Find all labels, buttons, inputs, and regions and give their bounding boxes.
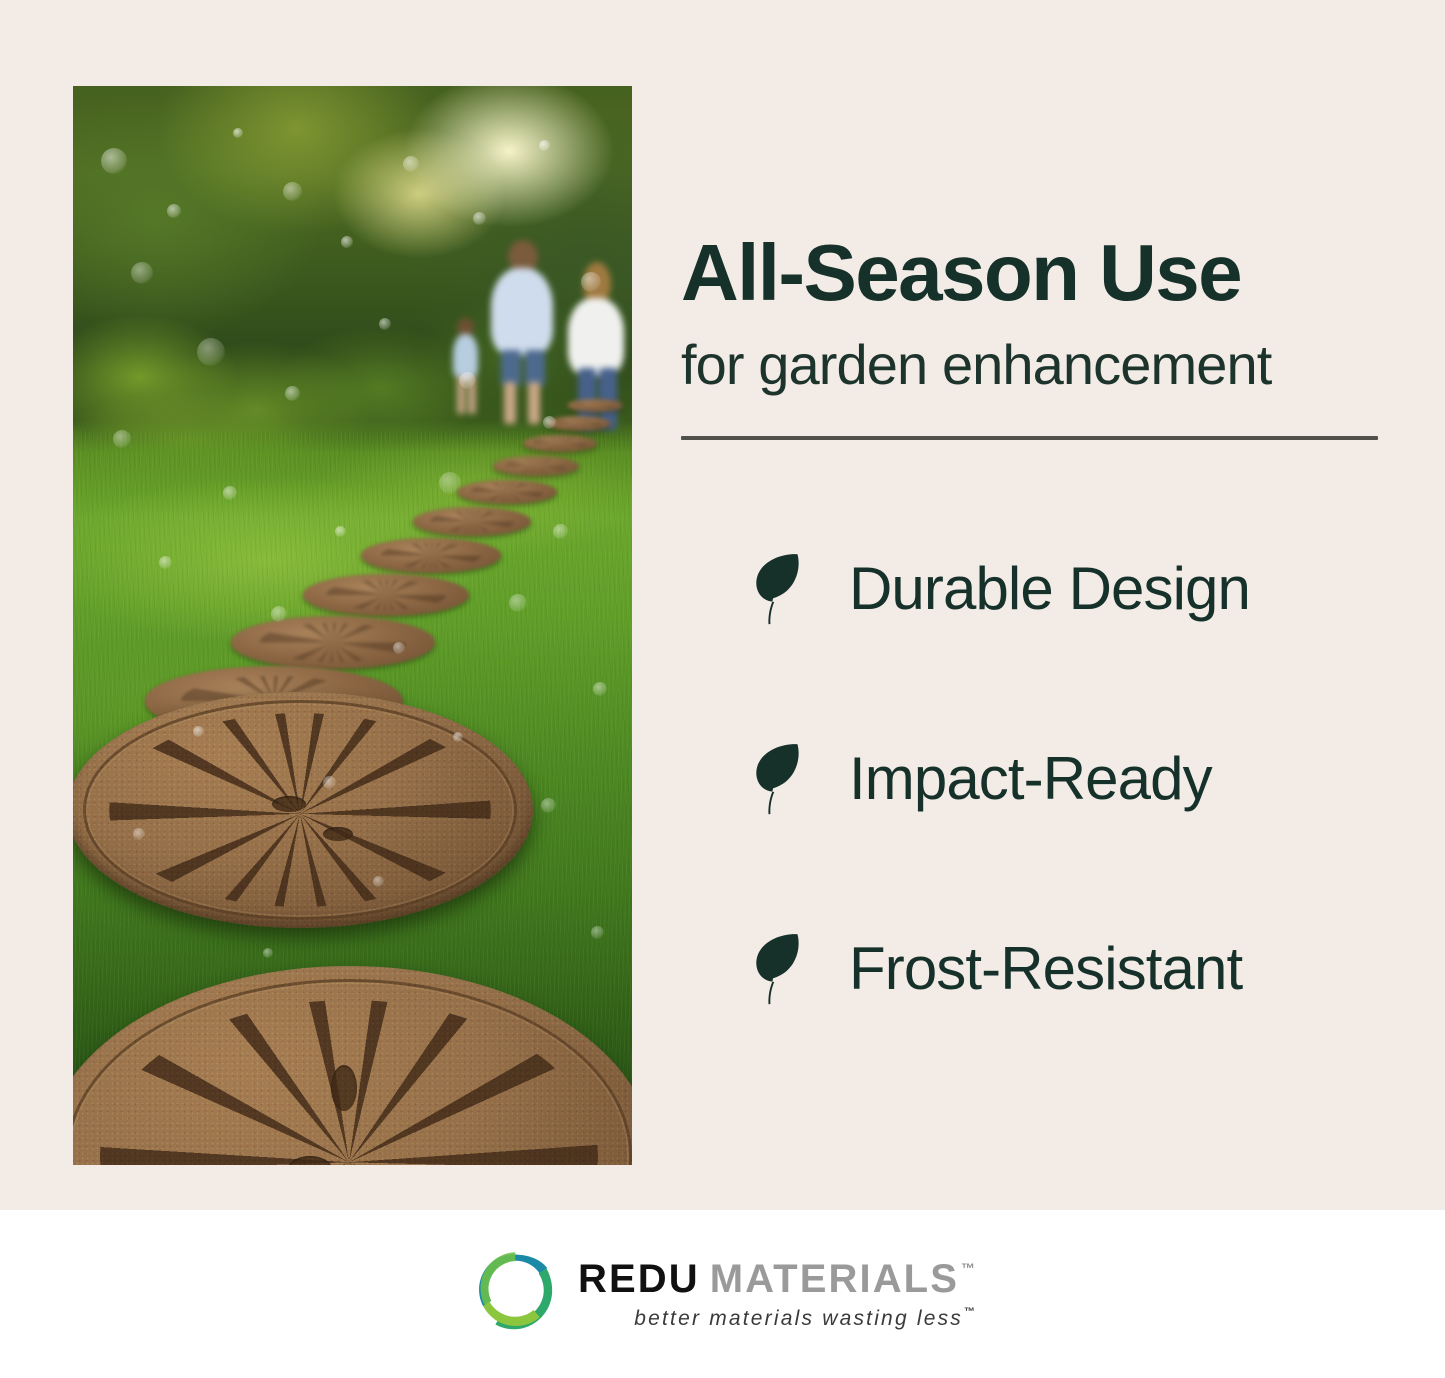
feature-label: Durable Design	[849, 559, 1250, 619]
divider	[681, 436, 1378, 440]
logo-text-block: REDU MATERIALS ™ better materials wastin…	[578, 1259, 975, 1329]
brand-logo: REDU MATERIALS ™ better materials wastin…	[470, 1251, 975, 1337]
page-subtitle: for garden enhancement	[681, 332, 1381, 398]
garden-path-photo	[73, 86, 632, 1165]
brand-tagline-trademark-symbol: ™	[964, 1307, 975, 1318]
photo-stone-far-7	[361, 538, 501, 573]
leaf-icon	[747, 932, 803, 1006]
redu-swirl-logo-icon	[470, 1251, 556, 1337]
photo-stone-far-5	[457, 480, 557, 504]
brand-tagline-text: better materials wasting less	[634, 1308, 963, 1329]
footer: REDU MATERIALS ™ better materials wastin…	[0, 1210, 1445, 1378]
hero-panel: All-Season Use for garden enhancement Du…	[0, 0, 1445, 1210]
leaf-icon	[747, 552, 803, 626]
photo-stone-foreground-upper	[73, 692, 533, 928]
photo-stone-far-1	[567, 399, 623, 412]
photo-stone-far-3	[523, 435, 597, 452]
brand-wordmark-primary: REDU	[578, 1259, 700, 1299]
brand-wordmark-secondary: MATERIALS	[710, 1259, 959, 1299]
photo-stone-far-4	[493, 456, 579, 476]
feature-label: Impact-Ready	[849, 749, 1212, 809]
brand-wordmark: REDU MATERIALS ™	[578, 1259, 975, 1299]
feature-label: Frost-Resistant	[849, 939, 1242, 999]
leaf-icon	[747, 742, 803, 816]
feature-item-frost-resistant: Frost-Resistant	[681, 874, 1381, 1064]
photo-stone-far-9	[231, 616, 435, 669]
photo-stone-far-6	[413, 507, 531, 536]
photo-walker-child	[449, 318, 483, 414]
page-title: All-Season Use	[681, 232, 1381, 314]
feature-list: Durable Design Impact-Ready Frost-Resist…	[681, 494, 1381, 1064]
content-column: All-Season Use for garden enhancement Du…	[681, 232, 1381, 1064]
photo-walker-adult-left	[487, 240, 557, 424]
photo-stone-far-2	[547, 416, 611, 431]
feature-item-impact-ready: Impact-Ready	[681, 684, 1381, 874]
feature-item-durable-design: Durable Design	[681, 494, 1381, 684]
brand-tagline: better materials wasting less ™	[578, 1308, 975, 1329]
brand-trademark-symbol: ™	[961, 1261, 975, 1275]
photo-stone-far-8	[303, 574, 469, 616]
